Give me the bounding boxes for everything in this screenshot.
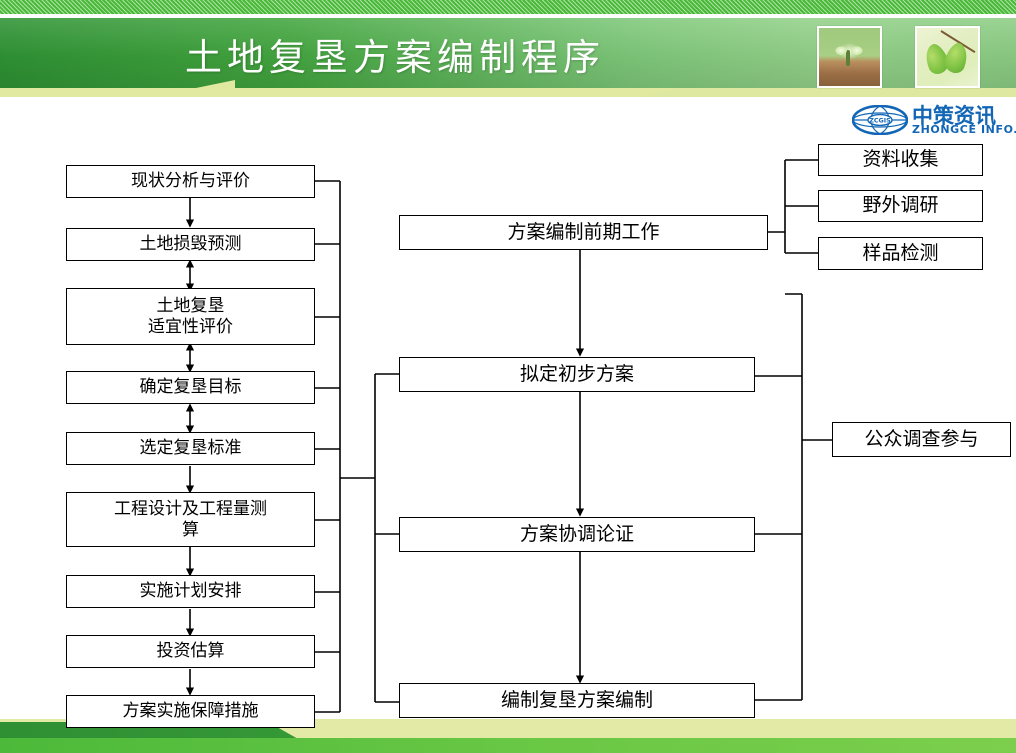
node-investment-estimate[interactable]: 投资估算: [66, 635, 315, 668]
node-public-participation[interactable]: 公众调查参与: [832, 422, 1011, 457]
node-draft-plan[interactable]: 拟定初步方案: [399, 357, 755, 392]
node-compile-reclamation-plan[interactable]: 编制复垦方案编制: [399, 683, 755, 718]
node-safeguard-measures[interactable]: 方案实施保障措施: [66, 695, 315, 728]
flowchart: 现状分析与评价 土地损毁预测 土地复垦 适宜性评价 确定复垦目标 选定复垦标准 …: [0, 0, 1016, 753]
node-define-reclamation-goal[interactable]: 确定复垦目标: [66, 371, 315, 404]
node-sample-testing[interactable]: 样品检测: [818, 237, 983, 270]
node-data-collection[interactable]: 资料收集: [818, 144, 983, 176]
node-select-reclamation-standard[interactable]: 选定复垦标准: [66, 432, 315, 465]
node-implementation-plan[interactable]: 实施计划安排: [66, 575, 315, 608]
node-line-1: 土地复垦: [157, 296, 225, 316]
node-land-damage-prediction[interactable]: 土地损毁预测: [66, 228, 315, 261]
node-line-1: 工程设计及工程量测: [114, 499, 267, 519]
node-field-survey[interactable]: 野外调研: [818, 190, 983, 222]
node-engineering-design[interactable]: 工程设计及工程量测 算: [66, 492, 315, 547]
node-line-2: 适宜性评价: [148, 317, 233, 337]
slide-canvas: 土地复垦方案编制程序 ZCGIS 中策资讯 ZHONGCE INFO.: [0, 0, 1016, 753]
node-plan-coordination[interactable]: 方案协调论证: [399, 517, 755, 552]
node-reclamation-suitability[interactable]: 土地复垦 适宜性评价: [66, 288, 315, 345]
node-line-2: 算: [182, 520, 199, 540]
node-preliminary-work[interactable]: 方案编制前期工作: [399, 215, 768, 250]
node-current-status-analysis[interactable]: 现状分析与评价: [66, 165, 315, 198]
